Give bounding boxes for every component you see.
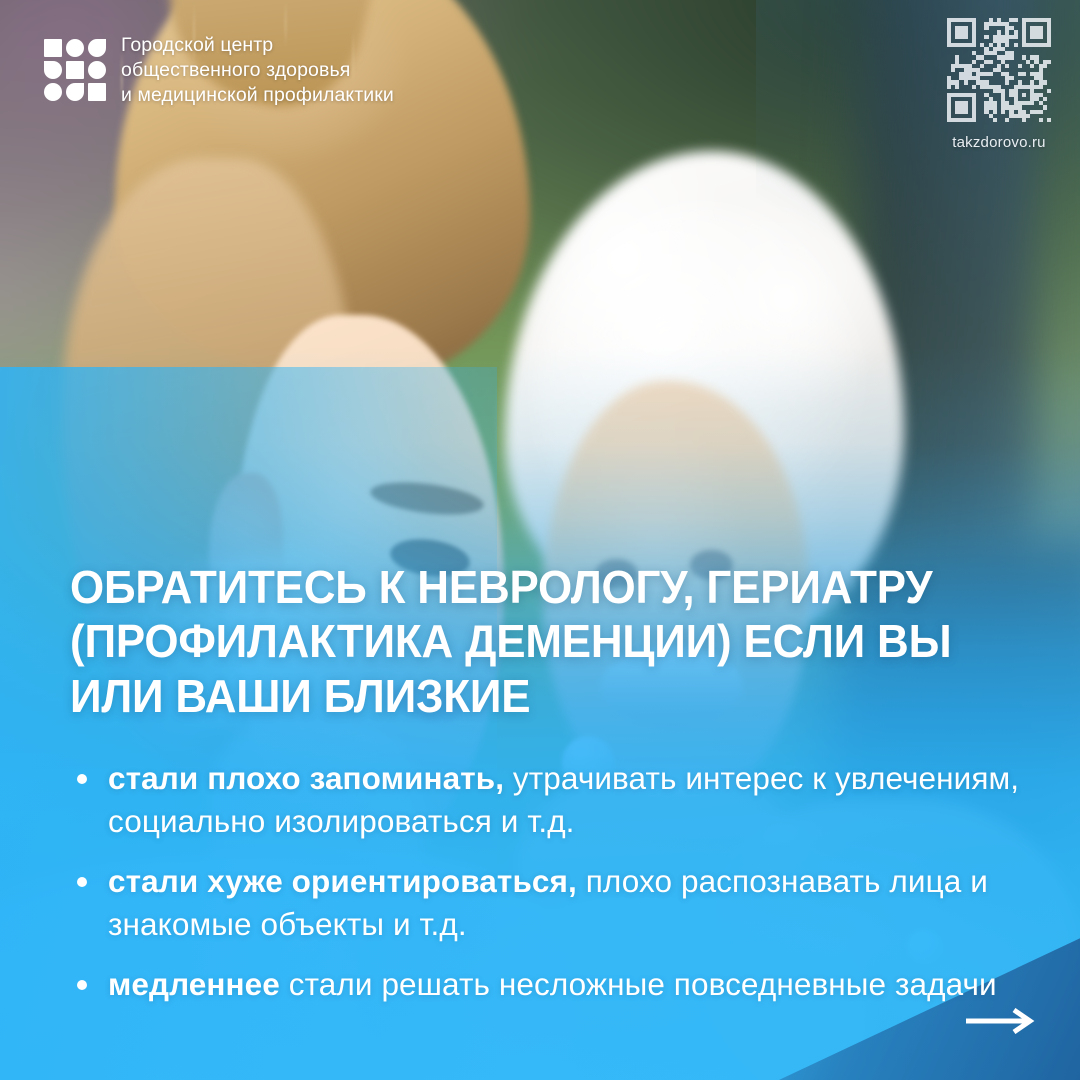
poster-canvas: Городской центр общественного здоровья и… bbox=[0, 0, 1080, 1080]
page-title: Обратитесь к неврологу, гериатру (профил… bbox=[70, 560, 979, 723]
qr-url-label: takzdorovo.ru bbox=[940, 134, 1058, 151]
logo-cell-teardrop-2 bbox=[44, 61, 62, 79]
logo-cell-circle-2 bbox=[88, 61, 106, 79]
logo-cell-square-2 bbox=[66, 61, 84, 79]
list-item-lead: медленнее bbox=[108, 966, 280, 1002]
list-item: стали хуже ориентироваться, плохо распоз… bbox=[70, 860, 1022, 946]
qr-code-icon[interactable] bbox=[947, 18, 1051, 122]
grid-logo-icon bbox=[44, 39, 106, 101]
brand-logo[interactable]: Городской центр общественного здоровья и… bbox=[44, 33, 394, 107]
organization-name: Городской центр общественного здоровья и… bbox=[121, 33, 394, 107]
logo-cell-circle-1 bbox=[66, 39, 84, 57]
arrow-right-icon[interactable] bbox=[964, 1008, 1038, 1034]
content-block: Обратитесь к неврологу, гериатру (профил… bbox=[0, 560, 1080, 1007]
list-item-lead: стали хуже ориентироваться, bbox=[108, 863, 577, 899]
list-item-rest: стали решать несложные повседневные зада… bbox=[280, 966, 997, 1002]
qr-block[interactable]: takzdorovo.ru bbox=[940, 18, 1058, 151]
list-item: стали плохо запоминать, утрачивать интер… bbox=[70, 757, 1022, 843]
logo-cell-teardrop-3 bbox=[66, 83, 84, 101]
list-item-lead: стали плохо запоминать, bbox=[108, 760, 504, 796]
list-item: медленнее стали решать несложные повседн… bbox=[70, 963, 1022, 1006]
logo-cell-square-3 bbox=[88, 83, 106, 101]
logo-cell-square-1 bbox=[44, 39, 62, 57]
logo-cell-circle-3 bbox=[44, 83, 62, 101]
symptom-list: стали плохо запоминать, утрачивать интер… bbox=[70, 757, 1022, 1007]
logo-cell-teardrop-1 bbox=[88, 39, 106, 57]
